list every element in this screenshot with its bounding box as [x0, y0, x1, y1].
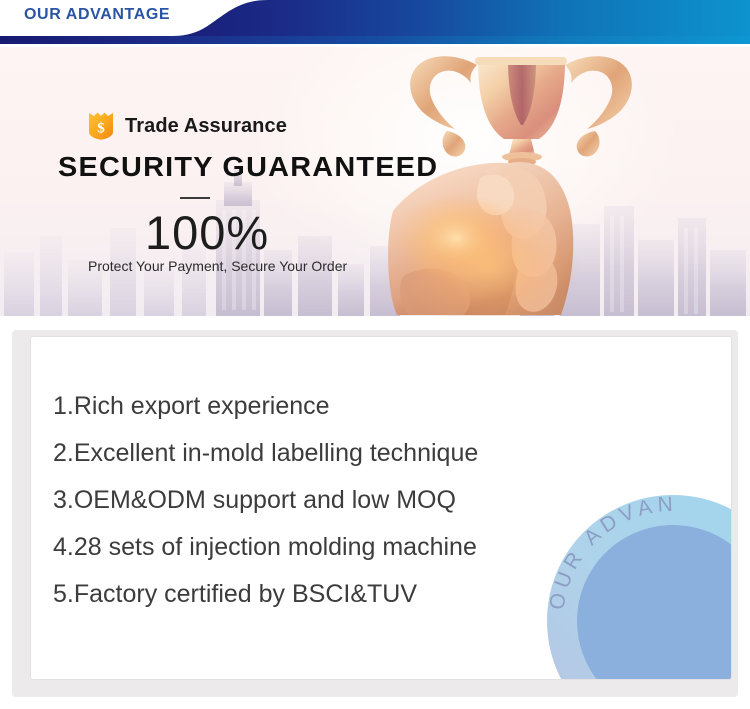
- trophy-in-hands-image: [385, 47, 750, 316]
- security-guaranteed-headline: SECURITY GUARANTEED: [58, 151, 438, 183]
- list-item: 5.Factory certified by BSCI&TUV: [53, 571, 693, 618]
- page-title: OUR ADVANTAGE: [24, 6, 170, 24]
- trade-assurance-shield-icon: $: [88, 112, 114, 140]
- divider-dash: [180, 197, 210, 199]
- banner-tagline: Protect Your Payment, Secure Your Order: [88, 258, 347, 274]
- advantage-list: 1.Rich export experience 2.Excellent in-…: [53, 383, 693, 618]
- list-item: 1.Rich export experience: [53, 383, 693, 430]
- list-item: 2.Excellent in-mold labelling technique: [53, 430, 693, 477]
- advantage-card: OUR ADVANTAGE 1.Rich export experience 2…: [30, 336, 732, 680]
- trade-assurance-banner: $ Trade Assurance SECURITY GUARANTEED 10…: [0, 47, 750, 316]
- list-item: 4.28 sets of injection molding machine: [53, 524, 693, 571]
- trade-assurance-label: Trade Assurance: [125, 115, 287, 138]
- trade-assurance-row: $ Trade Assurance: [88, 112, 287, 140]
- page-header: OUR ADVANTAGE: [0, 0, 750, 47]
- list-item: 3.OEM&ODM support and low MOQ: [53, 477, 693, 524]
- percent-value: 100%: [145, 205, 269, 260]
- banner-text-block: $ Trade Assurance SECURITY GUARANTEED 10…: [0, 47, 360, 316]
- svg-text:$: $: [97, 121, 105, 137]
